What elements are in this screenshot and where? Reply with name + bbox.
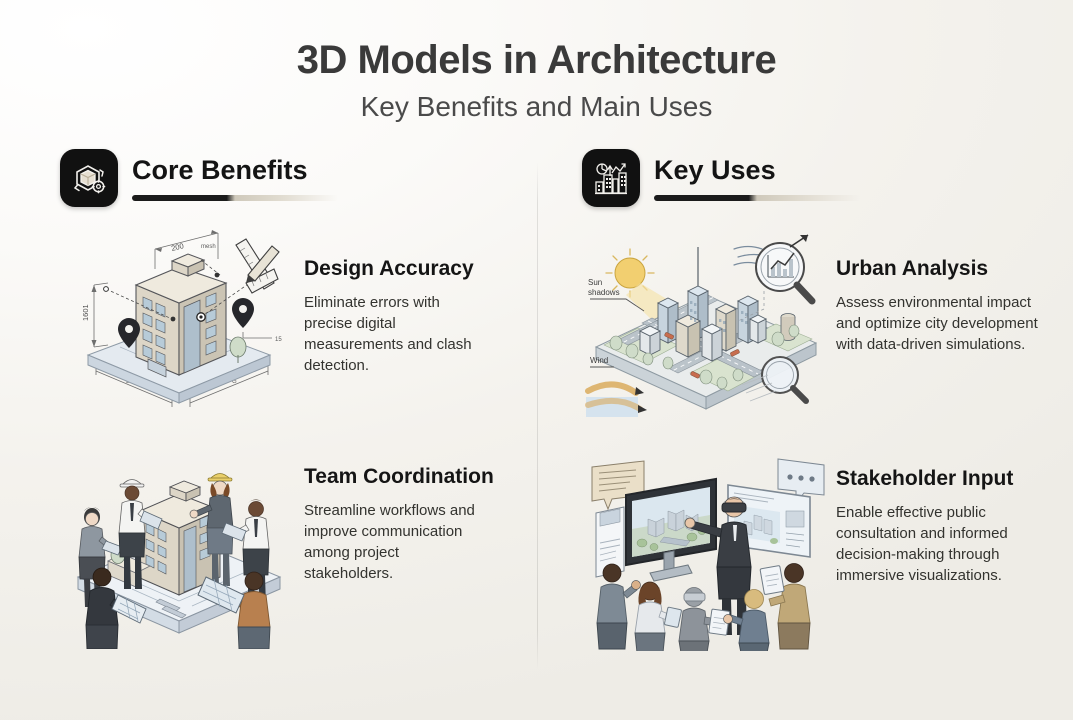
feature-design-accuracy: 200 1601 30 G 15 mesh [60, 225, 508, 415]
dimension-label-1601: 1601 [81, 304, 90, 321]
feature-text-team-coordination: Team Coordination Streamline workflows a… [304, 449, 494, 585]
content-columns: Core Benefits [0, 149, 1073, 651]
city-chart-icon [582, 149, 640, 207]
team-around-building-model-illustration [60, 449, 298, 649]
label-mesh: mesh [201, 244, 216, 250]
feature-text-stakeholder-input: Stakeholder Input Enable effective publi… [836, 451, 1041, 587]
dimension-label-200: 200 [170, 241, 184, 253]
isometric-building-dimensions-illustration: 200 1601 30 G 15 mesh [60, 225, 298, 415]
feature-body-urban-analysis: Assess environmental impact and optimize… [836, 292, 1041, 356]
cube-gear-icon [60, 149, 118, 207]
section-header-core-benefits: Core Benefits [60, 149, 508, 207]
feature-heading-stakeholder-input: Stakeholder Input [836, 465, 1041, 493]
section-title-key-uses: Key Uses [654, 157, 860, 184]
feature-text-design-accuracy: Design Accuracy Eliminate errors with pr… [304, 225, 492, 377]
feature-heading-urban-analysis: Urban Analysis [836, 255, 1041, 283]
annotation-wind: Wind [590, 356, 608, 365]
feature-body-stakeholder-input: Enable effective public consultation and… [836, 502, 1041, 587]
feature-body-team-coordination: Streamline workflows and improve communi… [304, 500, 492, 585]
feature-urban-analysis: Sun shadows [582, 225, 1058, 417]
dimension-label-15: 15 [275, 337, 282, 343]
isometric-city-analysis-illustration: Sun shadows [582, 225, 830, 417]
annotation-sun-shadows: Sun [588, 278, 602, 287]
accent-bar-key-uses [654, 195, 860, 201]
feature-text-urban-analysis: Urban Analysis Assess environmental impa… [836, 225, 1041, 356]
section-title-core-benefits: Core Benefits [132, 157, 338, 184]
column-core-benefits: Core Benefits [0, 149, 536, 651]
feature-heading-design-accuracy: Design Accuracy [304, 255, 492, 283]
feature-heading-team-coordination: Team Coordination [304, 463, 494, 491]
feature-team-coordination: Team Coordination Streamline workflows a… [60, 449, 508, 649]
accent-bar-core-benefits [132, 195, 338, 201]
page-title: 3D Models in Architecture [0, 38, 1073, 82]
section-header-key-uses: Key Uses [582, 149, 1058, 207]
column-key-uses: Key Uses Sun [536, 149, 1072, 651]
feature-body-design-accuracy: Eliminate errors with precise digital me… [304, 292, 492, 377]
page-header: 3D Models in Architecture Key Benefits a… [0, 0, 1073, 123]
feature-stakeholder-input: Stakeholder Input Enable effective publi… [582, 451, 1058, 651]
page-subtitle: Key Benefits and Main Uses [0, 92, 1073, 123]
stakeholder-presentation-illustration [582, 451, 830, 651]
annotation-sun-shadows-line2: shadows [588, 288, 620, 297]
